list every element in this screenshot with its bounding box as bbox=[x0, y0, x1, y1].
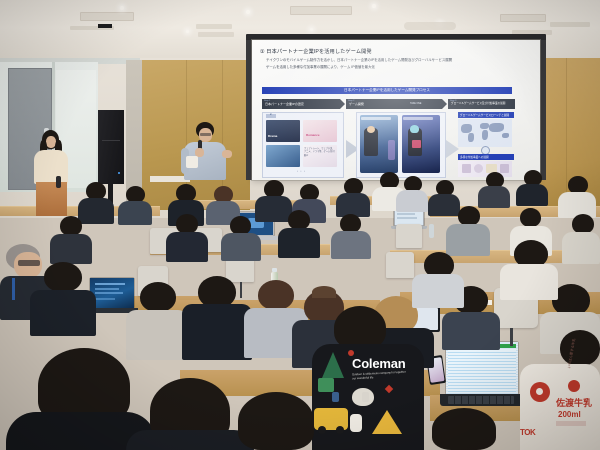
game-ui-topbar-left bbox=[361, 117, 391, 120]
slide-subtitle-line-1: テイクワンのモバイルゲーム制作力を活かし、日本パートナー企業のIPを活用したゲー… bbox=[266, 58, 506, 63]
slide-step-2-label: ゲーム開発 bbox=[349, 102, 364, 106]
attendee-body bbox=[396, 190, 428, 212]
attendee-foreground-body bbox=[126, 430, 254, 450]
attendee-foreground-head bbox=[238, 392, 314, 450]
sado-milk-volume: 200ml bbox=[558, 410, 581, 419]
attendee-body bbox=[442, 312, 500, 350]
attendee-head bbox=[572, 214, 594, 234]
speaker-grille-line bbox=[102, 140, 120, 141]
game-ui-sidebar-left bbox=[388, 140, 395, 160]
laptop-keyboard[interactable] bbox=[448, 396, 514, 404]
attendee-head bbox=[520, 208, 541, 227]
ceiling-light bbox=[372, 4, 376, 8]
game-character-right-emblem bbox=[412, 140, 421, 148]
slide-merch-item bbox=[474, 164, 483, 173]
presenter-glasses bbox=[200, 133, 211, 136]
slide-step-2-num: Step 2 bbox=[348, 100, 354, 102]
game-character-left-head bbox=[367, 126, 375, 133]
sado-milk-subline bbox=[556, 421, 586, 426]
laptop-blue-slide[interactable] bbox=[90, 278, 134, 308]
attendee-body bbox=[50, 234, 92, 264]
slide-poster-2 bbox=[303, 120, 337, 142]
ceiling-vent bbox=[80, 12, 134, 21]
wood-wall-panel-left bbox=[140, 60, 250, 210]
attendee-head bbox=[140, 282, 176, 312]
attendee-sado-head bbox=[560, 330, 600, 366]
ceiling-projector-mount bbox=[98, 24, 112, 28]
coleman-wheel-graphic bbox=[318, 426, 326, 434]
slide-poster-1-title: Drama bbox=[268, 134, 277, 138]
slide-poster-2-title: Romance bbox=[306, 133, 320, 137]
attendee-body bbox=[412, 274, 464, 308]
attendee-body bbox=[221, 233, 261, 261]
slide-poster-3 bbox=[266, 145, 300, 167]
ceiling-light bbox=[120, 6, 124, 10]
attendee-head bbox=[176, 214, 198, 234]
attendee-body bbox=[182, 304, 252, 360]
attendee-foreground-head bbox=[432, 408, 496, 450]
slide-step-3: グローバルゲームサービス及び付加事業の展開 bbox=[448, 99, 515, 109]
attendee-head bbox=[288, 210, 310, 230]
attendee-body bbox=[30, 290, 96, 336]
lanyard bbox=[12, 278, 15, 300]
attendee-body bbox=[331, 231, 371, 259]
attendee-head bbox=[458, 206, 480, 226]
attendee-body bbox=[428, 194, 460, 216]
slide-right-panel-2-header: 多様な付加事業への展開 bbox=[458, 154, 514, 160]
speaker-power-led bbox=[118, 172, 120, 174]
ceiling-slot bbox=[196, 24, 232, 29]
attendee-head bbox=[44, 262, 82, 292]
attendee-body bbox=[278, 228, 320, 258]
eyeglasses-icon bbox=[18, 260, 40, 266]
presenter-hand-right bbox=[222, 150, 232, 158]
game-ui-topbar-right bbox=[403, 117, 433, 120]
slide-right-panel-1-header: グローバルゲームサービスローンチと展開 bbox=[458, 112, 514, 118]
coleman-box-graphic bbox=[318, 378, 334, 392]
slide-step-2: ゲーム開発 bbox=[346, 99, 447, 109]
slide-carousel-dots: • • • bbox=[297, 170, 306, 173]
slide-world-map bbox=[458, 119, 512, 147]
attendee-hair-bun bbox=[312, 286, 336, 298]
ceiling-vent bbox=[290, 6, 352, 15]
attendee-body bbox=[126, 310, 188, 360]
attendee-body bbox=[562, 232, 600, 264]
ceiling-light bbox=[186, 30, 189, 33]
coleman-graphic-title: Coleman bbox=[352, 356, 406, 371]
coleman-figure-graphic bbox=[362, 392, 369, 402]
coleman-figure-graphic bbox=[350, 414, 362, 432]
slide-step-3-label: グローバルゲームサービス及び付加事業の展開 bbox=[451, 103, 505, 106]
attendee-body bbox=[500, 264, 558, 300]
sado-milk-wordmark: TOK bbox=[520, 428, 535, 437]
attendee-body bbox=[118, 201, 152, 225]
sado-milk-title: 佐渡牛乳 bbox=[556, 396, 592, 409]
slide-step-3-num: Step 3 bbox=[450, 100, 456, 102]
slide-step-1: 日本パートナー企業IPの選定 bbox=[262, 99, 345, 109]
coleman-figure-graphic bbox=[332, 392, 339, 402]
game-character-right-head bbox=[410, 125, 419, 133]
slide-subtitle-line-2: ゲームを活用した多様な付加事業の展開により、ゲーム IP価値を最大化 bbox=[266, 65, 506, 70]
attendee-body bbox=[166, 232, 208, 262]
attendee-body bbox=[516, 184, 548, 206]
ceiling-slot bbox=[198, 32, 234, 37]
attendee-body bbox=[446, 224, 490, 256]
moderator-skirt bbox=[36, 182, 67, 216]
bottle-cap bbox=[272, 268, 277, 272]
slide-merch-item bbox=[500, 164, 509, 173]
slide-ip-tag: IP bbox=[266, 114, 276, 118]
attendee-head bbox=[258, 280, 294, 310]
attendee-head bbox=[60, 216, 82, 236]
coleman-wheel-graphic bbox=[336, 426, 344, 434]
water-bottle[interactable] bbox=[429, 224, 434, 238]
slide-poster-1 bbox=[266, 120, 300, 142]
slide-ip-caption: ウェブトゥーン、ウェブ小説、アニメ、ドラマ等、ゲーム化可能IP bbox=[304, 148, 336, 158]
ceiling-vent bbox=[500, 14, 546, 22]
presenter-cup bbox=[186, 156, 198, 168]
ceiling-fixture bbox=[404, 22, 456, 30]
slide-step-1-num: Step 1 bbox=[264, 100, 270, 102]
wood-seam bbox=[566, 58, 567, 208]
sado-milk-logo-eye bbox=[536, 388, 543, 395]
chair-leg bbox=[510, 328, 513, 346]
conference-room-photo: ① 日本パートナー企業IPを活用したゲーム開発 テイクワンのモバイルゲーム制作力… bbox=[0, 0, 600, 450]
sado-milk-badge bbox=[568, 380, 580, 392]
moderator-top bbox=[34, 150, 68, 184]
chair[interactable] bbox=[386, 252, 414, 278]
ceiling-light bbox=[246, 10, 250, 14]
coleman-dot-graphic bbox=[348, 350, 354, 356]
attendee-body bbox=[478, 186, 510, 208]
slide-step-2-badge: TAKE ONE bbox=[410, 103, 421, 105]
pa-speaker bbox=[98, 110, 124, 184]
chair-leg bbox=[240, 282, 242, 298]
moderator-microphone[interactable] bbox=[56, 176, 61, 188]
slide-step-1-label: 日本パートナー企業IPの選定 bbox=[265, 102, 304, 106]
attendee-body bbox=[255, 196, 292, 222]
screen-edge-right bbox=[540, 40, 546, 180]
ceiling-light bbox=[310, 28, 313, 31]
ceiling-slot bbox=[550, 22, 590, 27]
chair[interactable] bbox=[396, 224, 422, 248]
slide-merch-item bbox=[462, 164, 471, 173]
attendee-body bbox=[78, 198, 114, 224]
slide-process-bar: 日本パートナー企業IPを活用したゲーム開発プロセス bbox=[262, 87, 512, 94]
slide-title: ① 日本パートナー企業IPを活用したゲーム開発 bbox=[260, 48, 510, 55]
